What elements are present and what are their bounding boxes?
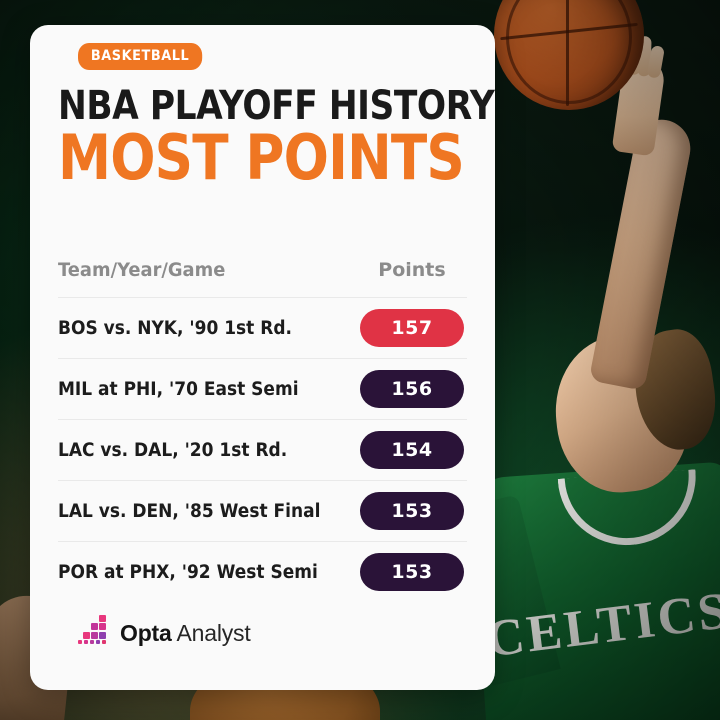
logo-square bbox=[99, 632, 106, 639]
points-cell: 157 bbox=[357, 309, 467, 347]
logo-square bbox=[91, 623, 98, 630]
row-label: MIL at PHI, '70 East Semi bbox=[58, 379, 333, 400]
table-row: LAL vs. DEN, '85 West Final153 bbox=[58, 480, 467, 541]
logo-square bbox=[78, 640, 82, 644]
stats-table: Team/Year/Game Points BOS vs. NYK, '90 1… bbox=[58, 243, 467, 602]
brand-footer: Opta Analyst bbox=[76, 618, 251, 648]
table-header-row: Team/Year/Game Points bbox=[58, 243, 467, 297]
table-row: LAC vs. DAL, '20 1st Rd.154 bbox=[58, 419, 467, 480]
column-header-points: Points bbox=[357, 259, 467, 281]
brand-name: Opta Analyst bbox=[120, 620, 251, 647]
row-label: LAC vs. DAL, '20 1st Rd. bbox=[58, 440, 333, 461]
points-pill: 153 bbox=[360, 492, 464, 530]
row-label: LAL vs. DEN, '85 West Final bbox=[58, 501, 333, 522]
page-title-line2: MOST POINTS bbox=[58, 129, 410, 188]
row-label: POR at PHX, '92 West Semi bbox=[58, 562, 333, 583]
logo-square bbox=[102, 640, 106, 644]
points-cell: 154 bbox=[357, 431, 467, 469]
logo-square bbox=[84, 640, 88, 644]
table-row: BOS vs. NYK, '90 1st Rd.157 bbox=[58, 297, 467, 358]
points-cell: 156 bbox=[357, 370, 467, 408]
infographic-root: CELTICS BASKETBALL NBA PLAYOFF HISTORY M… bbox=[0, 0, 720, 720]
points-cell: 153 bbox=[357, 553, 467, 591]
logo-square bbox=[99, 615, 106, 622]
content-card: BASKETBALL NBA PLAYOFF HISTORY MOST POIN… bbox=[30, 25, 495, 690]
logo-square bbox=[90, 640, 94, 644]
points-pill-highlight: 157 bbox=[360, 309, 464, 347]
column-header-team: Team/Year/Game bbox=[58, 259, 339, 281]
points-pill: 156 bbox=[360, 370, 464, 408]
opta-logo-icon bbox=[76, 618, 110, 648]
logo-square bbox=[96, 640, 100, 644]
row-label: BOS vs. NYK, '90 1st Rd. bbox=[58, 318, 333, 339]
points-cell: 153 bbox=[357, 492, 467, 530]
logo-square bbox=[91, 632, 98, 639]
table-row: MIL at PHI, '70 East Semi156 bbox=[58, 358, 467, 419]
page-title-line1: NBA PLAYOFF HISTORY bbox=[58, 87, 410, 125]
logo-square bbox=[99, 623, 106, 630]
brand-name-bold: Opta bbox=[120, 620, 172, 646]
table-body: BOS vs. NYK, '90 1st Rd.157MIL at PHI, '… bbox=[58, 297, 467, 602]
brand-name-light: Analyst bbox=[177, 620, 251, 646]
category-badge: BASKETBALL bbox=[78, 43, 202, 70]
points-pill: 153 bbox=[360, 553, 464, 591]
logo-square bbox=[83, 632, 90, 639]
table-row: POR at PHX, '92 West Semi153 bbox=[58, 541, 467, 602]
points-pill: 154 bbox=[360, 431, 464, 469]
